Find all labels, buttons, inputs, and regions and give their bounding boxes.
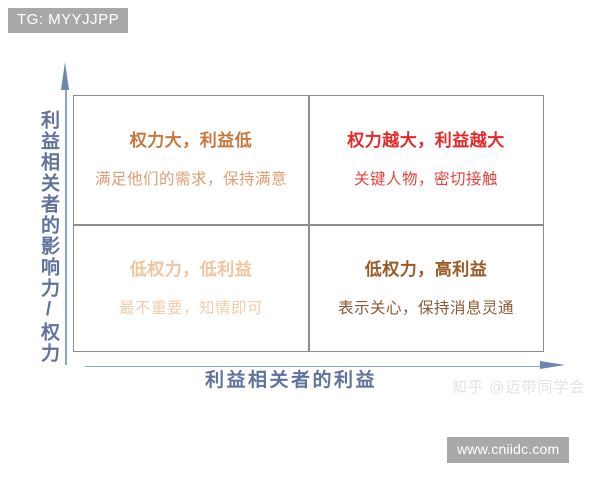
- x-axis-line: [85, 366, 550, 368]
- quadrant-title: 权力越大，利益越大: [347, 130, 505, 152]
- y-axis-arrow-icon: [61, 62, 69, 90]
- quadrant-title: 权力大，利益低: [130, 130, 253, 152]
- stakeholder-matrix: 权力大，利益低 满足他们的需求，保持满意 权力越大，利益越大 关键人物，密切接触…: [73, 95, 544, 352]
- quadrant-top-left: 权力大，利益低 满足他们的需求，保持满意: [74, 96, 308, 224]
- quadrant-title: 低权力，低利益: [130, 259, 253, 281]
- quadrant-subtitle: 表示关心，保持消息灵通: [338, 299, 514, 319]
- x-axis-label: 利益相关者的利益: [205, 368, 377, 394]
- site-url-watermark: www.cniidc.com: [447, 437, 569, 463]
- quadrant-title: 低权力，高利益: [365, 259, 488, 281]
- quadrant-bottom-right: 低权力，高利益 表示关心，保持消息灵通: [309, 225, 543, 353]
- y-axis-line: [65, 90, 67, 365]
- x-axis-arrow-icon: [540, 361, 565, 369]
- telegram-watermark: TG: MYYJJPP: [8, 8, 128, 33]
- quadrant-bottom-left: 低权力，低利益 最不重要，知情即可: [74, 225, 308, 353]
- y-axis-label: 利益相关者的影响力/权力: [18, 110, 60, 364]
- quadrant-subtitle: 关键人物，密切接触: [354, 170, 498, 190]
- quadrant-subtitle: 满足他们的需求，保持满意: [95, 170, 287, 190]
- quadrant-top-right: 权力越大，利益越大 关键人物，密切接触: [309, 96, 543, 224]
- quadrant-subtitle: 最不重要，知情即可: [119, 299, 263, 319]
- zhihu-watermark: 知乎 @迈带同学会: [452, 378, 585, 398]
